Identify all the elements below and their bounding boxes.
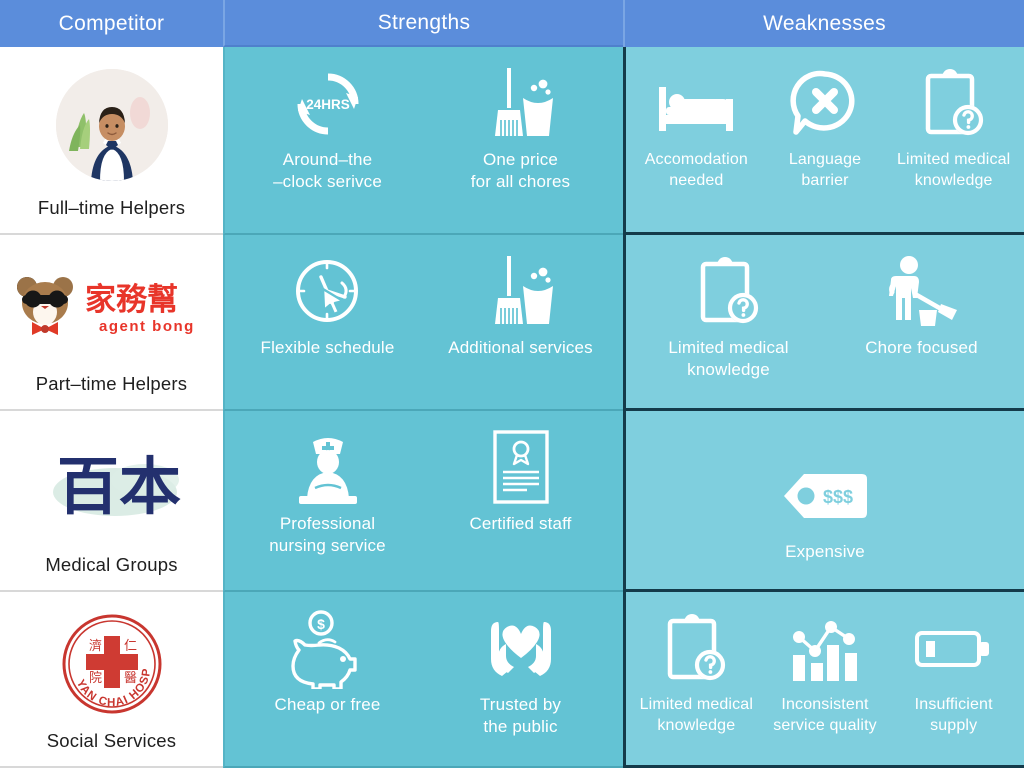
strength-item: Certified staff — [424, 425, 617, 535]
weaknesses-cell-row-2: Limited medical knowledge Chore focused — [623, 235, 1024, 411]
bed-person-icon — [653, 61, 739, 147]
weakness-caption: Insufficient supply — [915, 694, 993, 736]
broom-bucket-icon — [482, 61, 560, 147]
weaknesses-cell-row-3: $$$ Expensive — [623, 411, 1024, 592]
logo-domestic-helper-photo — [0, 53, 223, 197]
price-tag-dollar-icon: $$$ — [780, 453, 870, 539]
weakness-caption: Accomodation needed — [645, 149, 748, 191]
weaknesses-cell-row-1: Accomodation needed Language barrier — [623, 47, 1024, 235]
svg-text:家務幫: 家務幫 — [85, 282, 178, 318]
strength-caption: One price for all chores — [471, 149, 570, 194]
strength-item: $ Cheap or free — [231, 606, 424, 716]
svg-text:24HRS: 24HRS — [306, 97, 350, 112]
weakness-item: Insufficient supply — [889, 606, 1018, 736]
weakness-caption: Limited medical knowledge — [668, 337, 788, 382]
weakness-caption: Inconsistent service quality — [773, 694, 877, 736]
column-header-weaknesses: Weaknesses — [623, 0, 1024, 47]
svg-text:agent bong: agent bong — [99, 318, 195, 335]
weakness-caption: Expensive — [785, 541, 865, 563]
strength-item: Professional nursing service — [231, 425, 424, 558]
clipboard-question-icon — [695, 249, 763, 335]
strengths-cell-row-4: $ Cheap or free Trusted by the public — [223, 592, 623, 768]
bai-ben-calligraphy-logo: 百本 — [27, 436, 197, 536]
weakness-caption: Limited medical knowledge — [640, 694, 753, 736]
agent-bong-wordmark: 家務幫 agent bong — [83, 276, 211, 338]
column-header-competitor-label: Competitor — [59, 12, 165, 36]
strength-caption: Flexible schedule — [261, 337, 395, 359]
svg-text:院: 院 — [89, 671, 102, 686]
strength-item: Additional services — [424, 249, 617, 359]
competitor-comparison-table: Competitor Strengths Weaknesses — [0, 0, 1024, 768]
competitor-cell-full-time-helpers: Full–time Helpers — [0, 47, 223, 235]
weakness-caption: Language barrier — [789, 149, 861, 191]
column-header-strengths: Strengths — [223, 0, 623, 47]
column-header-strengths-label: Strengths — [378, 11, 471, 35]
weakness-caption: Chore focused — [865, 337, 978, 359]
svg-text:$: $ — [317, 616, 325, 632]
column-header-competitor: Competitor — [0, 0, 223, 47]
svg-text:$$$: $$$ — [823, 487, 853, 507]
logo-yan-chai-hospital: 濟 仁 院 醫 YAN CHAI HOSPITAL — [0, 598, 223, 730]
clock-cursor-icon — [289, 249, 367, 335]
weakness-item: $$$ Expensive — [780, 453, 870, 563]
hands-heart-icon — [480, 606, 562, 692]
strength-caption: Additional services — [448, 337, 593, 359]
agent-bong-bear-logo — [13, 271, 77, 343]
24hrs-cycle-icon: 24HRS — [291, 61, 365, 147]
competitor-label: Part–time Helpers — [36, 373, 187, 409]
strength-caption: Cheap or free — [275, 694, 381, 716]
strengths-cell-row-3: Professional nursing service Certified s… — [223, 411, 623, 592]
strength-item: Trusted by the public — [424, 606, 617, 739]
strength-caption: Around–the –clock serivce — [273, 149, 382, 194]
yan-chai-hospital-seal: 濟 仁 院 醫 YAN CHAI HOSPITAL — [58, 610, 166, 718]
weakness-item: Limited medical knowledge — [889, 61, 1018, 191]
speech-bubble-x-icon — [789, 61, 861, 147]
strength-item: 24HRS Around–the –clock serivce — [231, 61, 424, 194]
weakness-item: Chore focused — [825, 249, 1018, 359]
nurse-icon — [285, 425, 371, 511]
logo-agent-bong: 家務幫 agent bong — [0, 241, 223, 373]
weakness-item: Inconsistent service quality — [761, 606, 890, 736]
strengths-cell-row-2: Flexible schedule — [223, 235, 623, 411]
low-battery-icon — [913, 606, 995, 692]
competitor-label: Medical Groups — [45, 554, 177, 590]
competitor-label: Full–time Helpers — [38, 197, 185, 233]
competitor-label: Social Services — [47, 730, 176, 766]
strength-item: One price for all chores — [424, 61, 617, 194]
piggy-bank-icon: $ — [285, 606, 371, 692]
weakness-caption: Limited medical knowledge — [897, 149, 1010, 191]
strength-item: Flexible schedule — [231, 249, 424, 359]
person-mopping-icon — [879, 249, 965, 335]
clipboard-question-icon — [662, 606, 730, 692]
strength-caption: Professional nursing service — [269, 513, 386, 558]
strengths-cell-row-1: 24HRS Around–the –clock serivce — [223, 47, 623, 235]
strength-caption: Certified staff — [469, 513, 571, 535]
strength-caption: Trusted by the public — [480, 694, 561, 739]
competitor-cell-part-time-helpers: 家務幫 agent bong Part–time Helpers — [0, 235, 223, 411]
svg-text:百本: 百本 — [57, 450, 181, 523]
bar-chart-line-icon — [785, 606, 865, 692]
broom-bucket-icon — [482, 249, 560, 335]
weakness-item: Limited medical knowledge — [632, 606, 761, 736]
weakness-item: Accomodation needed — [632, 61, 761, 191]
competitor-cell-social-services: 濟 仁 院 醫 YAN CHAI HOSPITAL Social Service… — [0, 592, 223, 768]
svg-text:醫: 醫 — [124, 671, 137, 686]
photo-domestic-helper — [56, 69, 168, 181]
svg-text:仁: 仁 — [124, 639, 137, 654]
weakness-item: Language barrier — [761, 61, 890, 191]
column-header-weaknesses-label: Weaknesses — [763, 12, 886, 36]
competitor-cell-medical-groups: 百本 Medical Groups — [0, 411, 223, 592]
clipboard-question-icon — [920, 61, 988, 147]
certificate-icon — [490, 425, 552, 511]
weaknesses-cell-row-4: Limited medical knowledge Inconsistent s… — [623, 592, 1024, 768]
logo-bai-ben: 百本 — [0, 417, 223, 554]
weakness-item: Limited medical knowledge — [632, 249, 825, 382]
svg-text:濟: 濟 — [89, 638, 102, 654]
